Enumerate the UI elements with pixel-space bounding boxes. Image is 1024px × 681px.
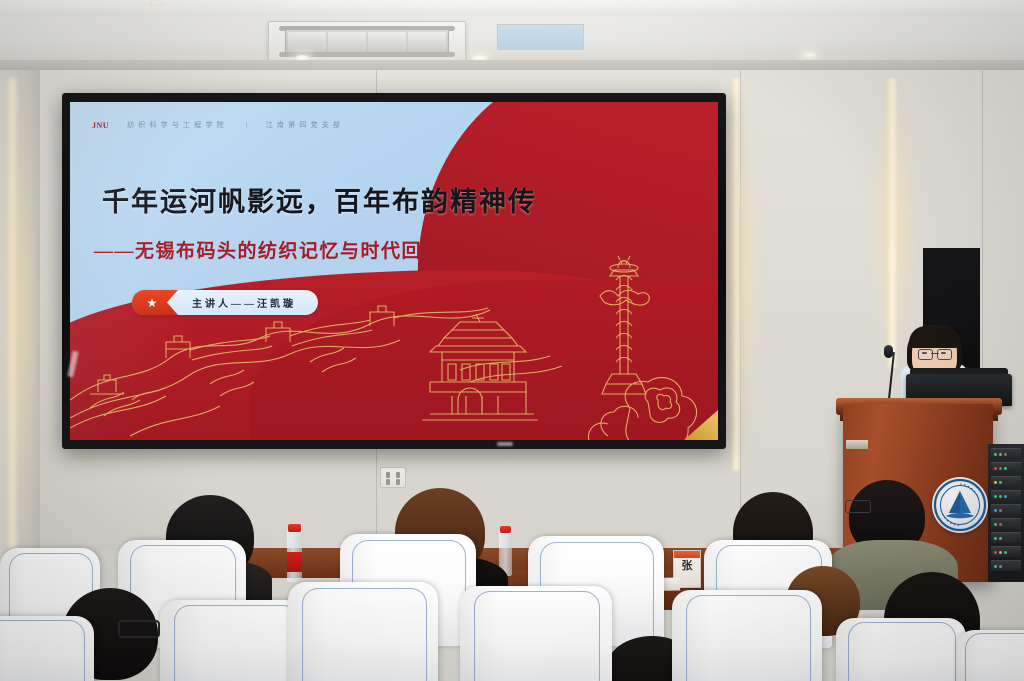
jiangnan-university-emblem-icon bbox=[932, 477, 988, 533]
lecture-room-photo: JNU 纺织科学与工程学院 | 江南第四党支部 千年运河帆影远，百年布韵精神传 … bbox=[0, 0, 1024, 681]
chair-f3 bbox=[288, 582, 438, 681]
downlight-4 bbox=[149, 0, 164, 7]
slide-header-row: JNU 纺织科学与工程学院 | 江南第四党支部 bbox=[92, 119, 698, 131]
glasses-icon bbox=[918, 349, 952, 358]
chair-f5 bbox=[672, 590, 822, 681]
projection-screen-frame: JNU 纺织科学与工程学院 | 江南第四党支部 千年运河帆影远，百年布韵精神传 … bbox=[62, 93, 726, 449]
wall-outlet[interactable] bbox=[380, 467, 406, 488]
chair-f4 bbox=[460, 586, 612, 681]
podium-side-shelf bbox=[846, 440, 868, 449]
slide-speaker-name: 主讲人——汪凯璇 bbox=[178, 295, 296, 310]
slide-speaker-badge: ★ 主讲人——汪凯璇 bbox=[132, 290, 318, 315]
chair-f7 bbox=[956, 630, 1024, 681]
cove-light-1 bbox=[731, 78, 741, 470]
av-equipment-rack[interactable] bbox=[988, 444, 1024, 582]
placard-name-text: 张 bbox=[674, 561, 700, 572]
emblem-svg bbox=[933, 478, 987, 532]
audience-glasses-icon-2 bbox=[118, 620, 160, 638]
ceiling-light-panel bbox=[497, 24, 584, 50]
chair-f1 bbox=[0, 616, 94, 681]
slide-logo-text: JNU bbox=[92, 121, 109, 130]
water-bottle-1 bbox=[287, 528, 302, 582]
ceiling bbox=[0, 0, 1024, 72]
bottle-cap-1 bbox=[288, 524, 301, 532]
cove-light-2 bbox=[886, 78, 898, 368]
chair-f6 bbox=[836, 618, 966, 681]
cove-light-3 bbox=[6, 78, 18, 548]
star-glyph: ★ bbox=[147, 297, 158, 309]
audience-glasses-icon bbox=[845, 500, 871, 513]
slide-unit-name: 江南第四党支部 bbox=[266, 120, 344, 130]
star-icon: ★ bbox=[132, 290, 178, 315]
slide-subtitle: ——无锡布码头的纺织记忆与时代回响 bbox=[94, 236, 443, 263]
frame-highlight-bottom bbox=[497, 442, 513, 446]
projection-screen: JNU 纺织科学与工程学院 | 江南第四党支部 千年运河帆影远，百年布韵精神传 … bbox=[70, 102, 718, 440]
presenter-fringe bbox=[909, 326, 960, 348]
placard-band bbox=[674, 551, 700, 558]
bottle-label-1 bbox=[287, 552, 302, 572]
downlight-3 bbox=[802, 52, 817, 59]
bottle-cap-2 bbox=[500, 526, 511, 533]
slide-main-title: 千年运河帆影远，百年布韵精神传 bbox=[102, 180, 537, 219]
slide-org-name: 纺织科学与工程学院 bbox=[127, 120, 228, 130]
slide-header-separator: | bbox=[246, 122, 248, 129]
